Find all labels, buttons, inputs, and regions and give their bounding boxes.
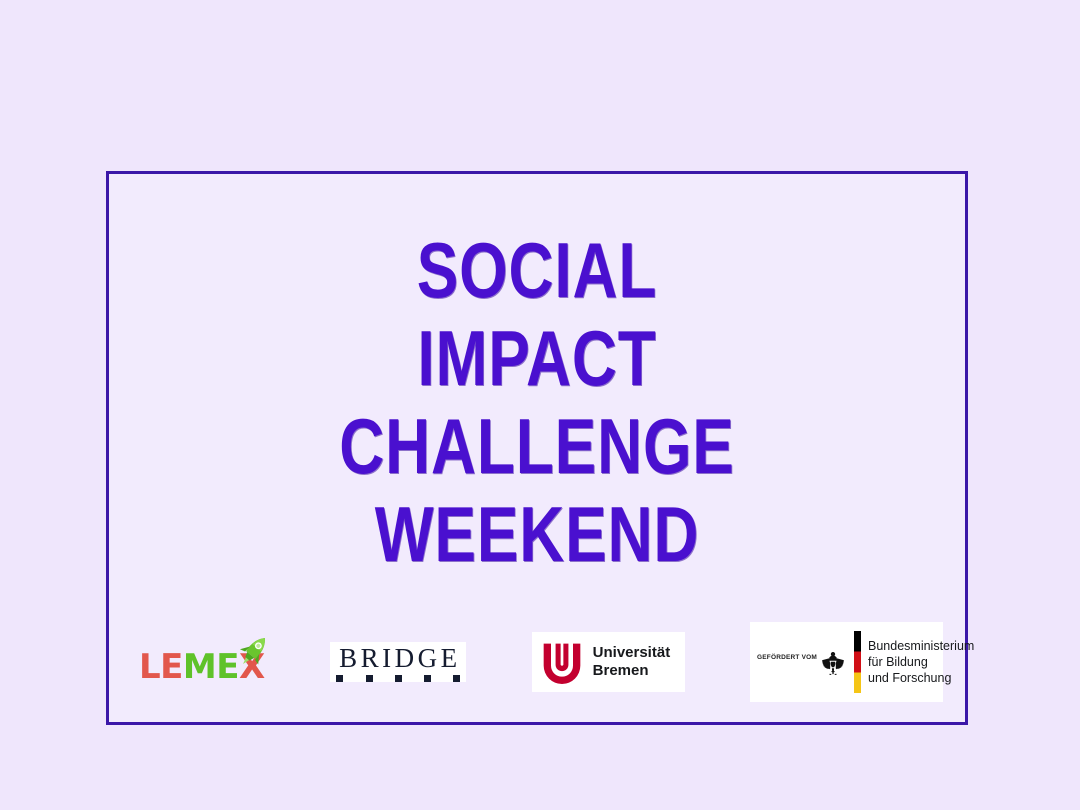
uhb-wordmark: Universität Bremen (593, 644, 671, 680)
headline-line-1: SOCIAL (195, 226, 880, 314)
sponsor-logo-strip: LEMEX (139, 616, 943, 708)
lemex-wordmark-part-1: LE (139, 647, 183, 687)
poster-frame: SOCIAL IMPACT CHALLENGE WEEKEND LEMEX (106, 171, 968, 725)
germany-flag-bar-icon (854, 631, 861, 693)
bmbf-line-1: Bundesministerium (868, 638, 974, 654)
bmbf-funded-by-label: GEFÖRDERT VOM (757, 650, 817, 662)
headline-line-2: IMPACT (195, 314, 880, 402)
bmbf-wordmark: Bundesministerium für Bildung und Forsch… (868, 638, 974, 686)
bridge-wordmark: BRIDGE (336, 645, 461, 672)
logo-bridge: BRIDGE (330, 642, 466, 682)
bridge-pillar (453, 675, 460, 682)
page-title: SOCIAL IMPACT CHALLENGE WEEKEND (109, 226, 965, 578)
poster-canvas: SOCIAL IMPACT CHALLENGE WEEKEND LEMEX (0, 0, 1080, 810)
logo-universitaet-bremen: Universität Bremen (532, 632, 685, 692)
bmbf-line-3: und Forschung (868, 670, 974, 686)
bridge-pillar (424, 675, 431, 682)
bmbf-line-2: für Bildung (868, 654, 974, 670)
bundesadler-icon (820, 650, 846, 678)
rocket-icon (237, 632, 271, 670)
logo-lemex: LEMEX (139, 634, 265, 690)
bridge-pillar (366, 675, 373, 682)
lemex-wordmark-part-2: ME (183, 647, 239, 687)
bridge-pillars (336, 675, 460, 682)
u-monogram-icon (540, 640, 584, 684)
headline-line-4: WEEKEND (195, 490, 880, 578)
uhb-line-2: Bremen (593, 662, 671, 680)
logo-bmbf: GEFÖRDERT VOM (750, 622, 943, 702)
bmbf-funded-block: GEFÖRDERT VOM (757, 646, 846, 678)
bridge-pillar (336, 675, 343, 682)
headline-line-3: CHALLENGE (195, 402, 880, 490)
bridge-pillar (395, 675, 402, 682)
uhb-line-1: Universität (593, 644, 671, 662)
